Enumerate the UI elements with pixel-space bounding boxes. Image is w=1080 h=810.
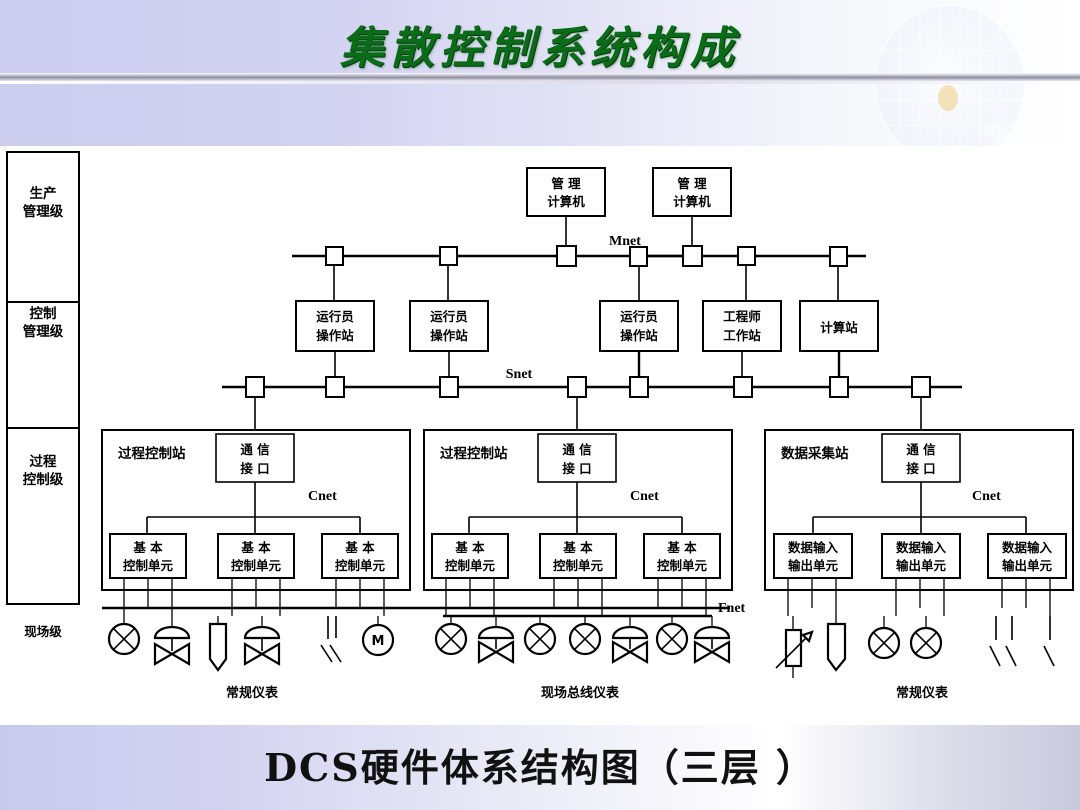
data-io-unit-1-line1: 数据输入 — [787, 540, 839, 555]
basic-control-unit-2-2: 基 本 控制单元 — [540, 534, 616, 578]
level-bar: 生产 管理级 控制 管理级 过程 控制级 现场级 — [7, 152, 79, 639]
conventional-instruments-left-label: 常规仪表 — [226, 685, 279, 701]
basic-control-unit-1-2-line2: 控制单元 — [231, 558, 282, 573]
dcs-architecture-diagram: 生产 管理级 控制 管理级 过程 控制级 现场级 管 理 计算机 管 理 计算机… — [0, 146, 1080, 725]
level-label-production-management-line2: 管理级 — [23, 203, 64, 220]
level-label-production-management-line1: 生产 — [30, 185, 57, 202]
comm-interface-3-line2: 接 口 — [906, 461, 935, 476]
mnet-node-6 — [738, 247, 755, 265]
management-computer-2-line1: 管 理 — [677, 176, 707, 191]
operator-station-2-line1: 运行员 — [430, 309, 468, 324]
basic-control-unit-1-2: 基 本 控制单元 — [218, 534, 294, 578]
mnet-node-4 — [630, 247, 647, 266]
snet-node-5 — [630, 377, 648, 397]
snet-node-1 — [246, 377, 264, 397]
comm-interface-3-line1: 通 信 — [906, 442, 936, 457]
sensor-circle-cross-icon — [869, 616, 899, 658]
mnet-node-1 — [326, 247, 343, 265]
level-box-production-management — [7, 152, 79, 302]
operator-station-3: 运行员 操作站 — [600, 301, 678, 378]
basic-control-unit-1-1-line2: 控制单元 — [123, 558, 174, 573]
computing-station-label: 计算站 — [820, 320, 858, 335]
engineer-workstation-line1: 工程师 — [723, 309, 761, 324]
snet-node-7 — [830, 377, 848, 397]
snet-node-6 — [734, 377, 752, 397]
management-computer-1-line2: 计算机 — [547, 194, 585, 209]
comm-interface-2-line2: 接 口 — [562, 461, 591, 476]
station-row: 运行员 操作站 运行员 操作站 运行员 操作站 工程师 工作站 计算站 — [296, 301, 878, 378]
process-control-station-1-title: 过程控制站 — [118, 445, 186, 462]
data-io-unit-2-line1: 数据输入 — [895, 540, 947, 555]
operator-station-1-line2: 操作站 — [316, 328, 354, 343]
basic-control-unit-1-1-line1: 基 本 — [132, 540, 163, 555]
data-io-unit-1: 数据输入 输出单元 — [774, 534, 852, 578]
computing-station: 计算站 — [800, 301, 878, 378]
fieldbus-instruments-label: 现场总线仪表 — [541, 685, 620, 701]
fnet-label: Fnet — [718, 601, 746, 616]
conventional-instruments-right: 常规仪表 — [776, 616, 1054, 701]
snet-node-8 — [912, 377, 930, 397]
conventional-instruments-left: M 常规仪表 — [109, 616, 393, 701]
diagram-caption: DCS硬件体系结构图（三层 ） — [0, 737, 1080, 792]
snet-node-2 — [326, 377, 344, 397]
mnet-bus: Mnet — [292, 234, 866, 266]
field-wiring — [102, 578, 1050, 616]
wire-break-icon — [990, 616, 1054, 666]
mnet-node-3 — [557, 246, 576, 266]
sensor-circle-cross-icon — [911, 616, 941, 658]
level-label-process-control-line1: 过程 — [30, 453, 57, 470]
mnet-node-2 — [440, 247, 457, 265]
sensor-circle-cross-icon — [657, 616, 687, 654]
station-uplinks — [334, 265, 838, 301]
operator-station-1: 运行员 操作站 — [296, 301, 374, 378]
control-valve-icon — [695, 616, 729, 662]
motor-letter: M — [372, 634, 385, 649]
level-label-process-control-line2: 控制级 — [23, 471, 64, 488]
fieldbus-instruments: 现场总线仪表 — [436, 616, 729, 701]
basic-control-unit-2-2-line1: 基 本 — [562, 540, 593, 555]
comm-interface-2-line1: 通 信 — [562, 442, 592, 457]
wire-break-icon — [321, 616, 341, 662]
level-label-field: 现场级 — [24, 624, 62, 639]
data-io-unit-3-line2: 输出单元 — [1002, 558, 1053, 573]
operator-station-2-line2: 操作站 — [430, 328, 468, 343]
operator-station-3-line2: 操作站 — [620, 328, 658, 343]
sensor-circle-cross-icon — [570, 616, 600, 654]
sensor-circle-cross-icon — [436, 616, 466, 654]
snet-label: Snet — [506, 367, 533, 382]
data-acquisition-station-title: 数据采集站 — [781, 445, 849, 462]
cnet-label-3: Cnet — [972, 489, 1001, 504]
management-computer-1-line1: 管 理 — [551, 176, 581, 191]
basic-control-unit-1-3: 基 本 控制单元 — [322, 534, 398, 578]
basic-control-unit-2-1: 基 本 控制单元 — [432, 534, 508, 578]
snet-bus: Snet — [222, 367, 962, 430]
header-band: 集散控制系统构成 — [0, 0, 1080, 146]
basic-control-unit-1-3-line1: 基 本 — [344, 540, 375, 555]
mnet-node-5 — [683, 246, 702, 266]
snet-node-3 — [440, 377, 458, 397]
basic-control-unit-1-3-line2: 控制单元 — [335, 558, 386, 573]
level-label-control-management-line2: 管理级 — [23, 323, 64, 340]
control-valve-icon — [613, 616, 647, 662]
conventional-instruments-right-label: 常规仪表 — [896, 685, 949, 701]
probe-icon — [828, 616, 845, 670]
management-computer-2: 管 理 计算机 — [653, 168, 731, 250]
control-valve-icon — [155, 616, 189, 664]
caption-band: DCS硬件体系结构图（三层 ） — [0, 725, 1080, 810]
data-io-unit-2-line2: 输出单元 — [896, 558, 947, 573]
level-label-control-management-line1: 控制 — [30, 305, 57, 322]
basic-control-unit-2-1-line2: 控制单元 — [445, 558, 496, 573]
cnet-label-2: Cnet — [630, 489, 659, 504]
engineer-workstation-line2: 工作站 — [723, 328, 761, 343]
basic-control-unit-2-3: 基 本 控制单元 — [644, 534, 720, 578]
data-io-unit-1-line2: 输出单元 — [788, 558, 839, 573]
basic-control-unit-1-1: 基 本 控制单元 — [110, 534, 186, 578]
operator-station-3-line1: 运行员 — [620, 309, 658, 324]
probe-icon — [210, 616, 226, 670]
operator-station-1-line1: 运行员 — [316, 309, 354, 324]
process-control-station-2-title: 过程控制站 — [440, 445, 508, 462]
control-valve-icon — [245, 616, 279, 664]
variable-resistor-icon — [776, 616, 812, 678]
operator-station-2: 运行员 操作站 — [410, 301, 488, 378]
sensor-circle-cross-icon — [525, 616, 555, 654]
data-acquisition-station: 数据采集站 通 信 接 口 Cnet 数据输入 输出单元 数据输入 输出单元 数… — [765, 430, 1073, 590]
basic-control-unit-2-3-line2: 控制单元 — [657, 558, 708, 573]
basic-control-unit-1-2-line1: 基 本 — [240, 540, 271, 555]
basic-control-unit-2-1-line1: 基 本 — [454, 540, 485, 555]
control-valve-icon — [479, 616, 513, 662]
motor-icon: M — [363, 616, 393, 655]
page-title: 集散控制系统构成 — [0, 12, 1080, 76]
header-divider-rule-secondary — [0, 81, 1080, 84]
cnet-label-1: Cnet — [308, 489, 337, 504]
process-control-station-1: 过程控制站 通 信 接 口 Cnet 基 本 控制单元 基 本 控制单元 基 本… — [102, 430, 410, 590]
comm-interface-1-line2: 接 口 — [240, 461, 269, 476]
data-io-unit-2: 数据输入 输出单元 — [882, 534, 960, 578]
mnet-node-7 — [830, 247, 847, 266]
process-control-station-2: 过程控制站 通 信 接 口 Cnet 基 本 控制单元 基 本 控制单元 基 本… — [424, 430, 732, 590]
management-computer-2-line2: 计算机 — [673, 194, 711, 209]
snet-node-4 — [568, 377, 586, 397]
management-computer-1: 管 理 计算机 — [527, 168, 605, 250]
data-io-unit-3: 数据输入 输出单元 — [988, 534, 1066, 578]
data-io-unit-3-line1: 数据输入 — [1001, 540, 1053, 555]
basic-control-unit-2-2-line2: 控制单元 — [553, 558, 604, 573]
engineer-workstation: 工程师 工作站 — [703, 301, 781, 378]
comm-interface-1-line1: 通 信 — [240, 442, 270, 457]
sensor-circle-cross-icon — [109, 616, 139, 654]
basic-control-unit-2-3-line1: 基 本 — [666, 540, 697, 555]
